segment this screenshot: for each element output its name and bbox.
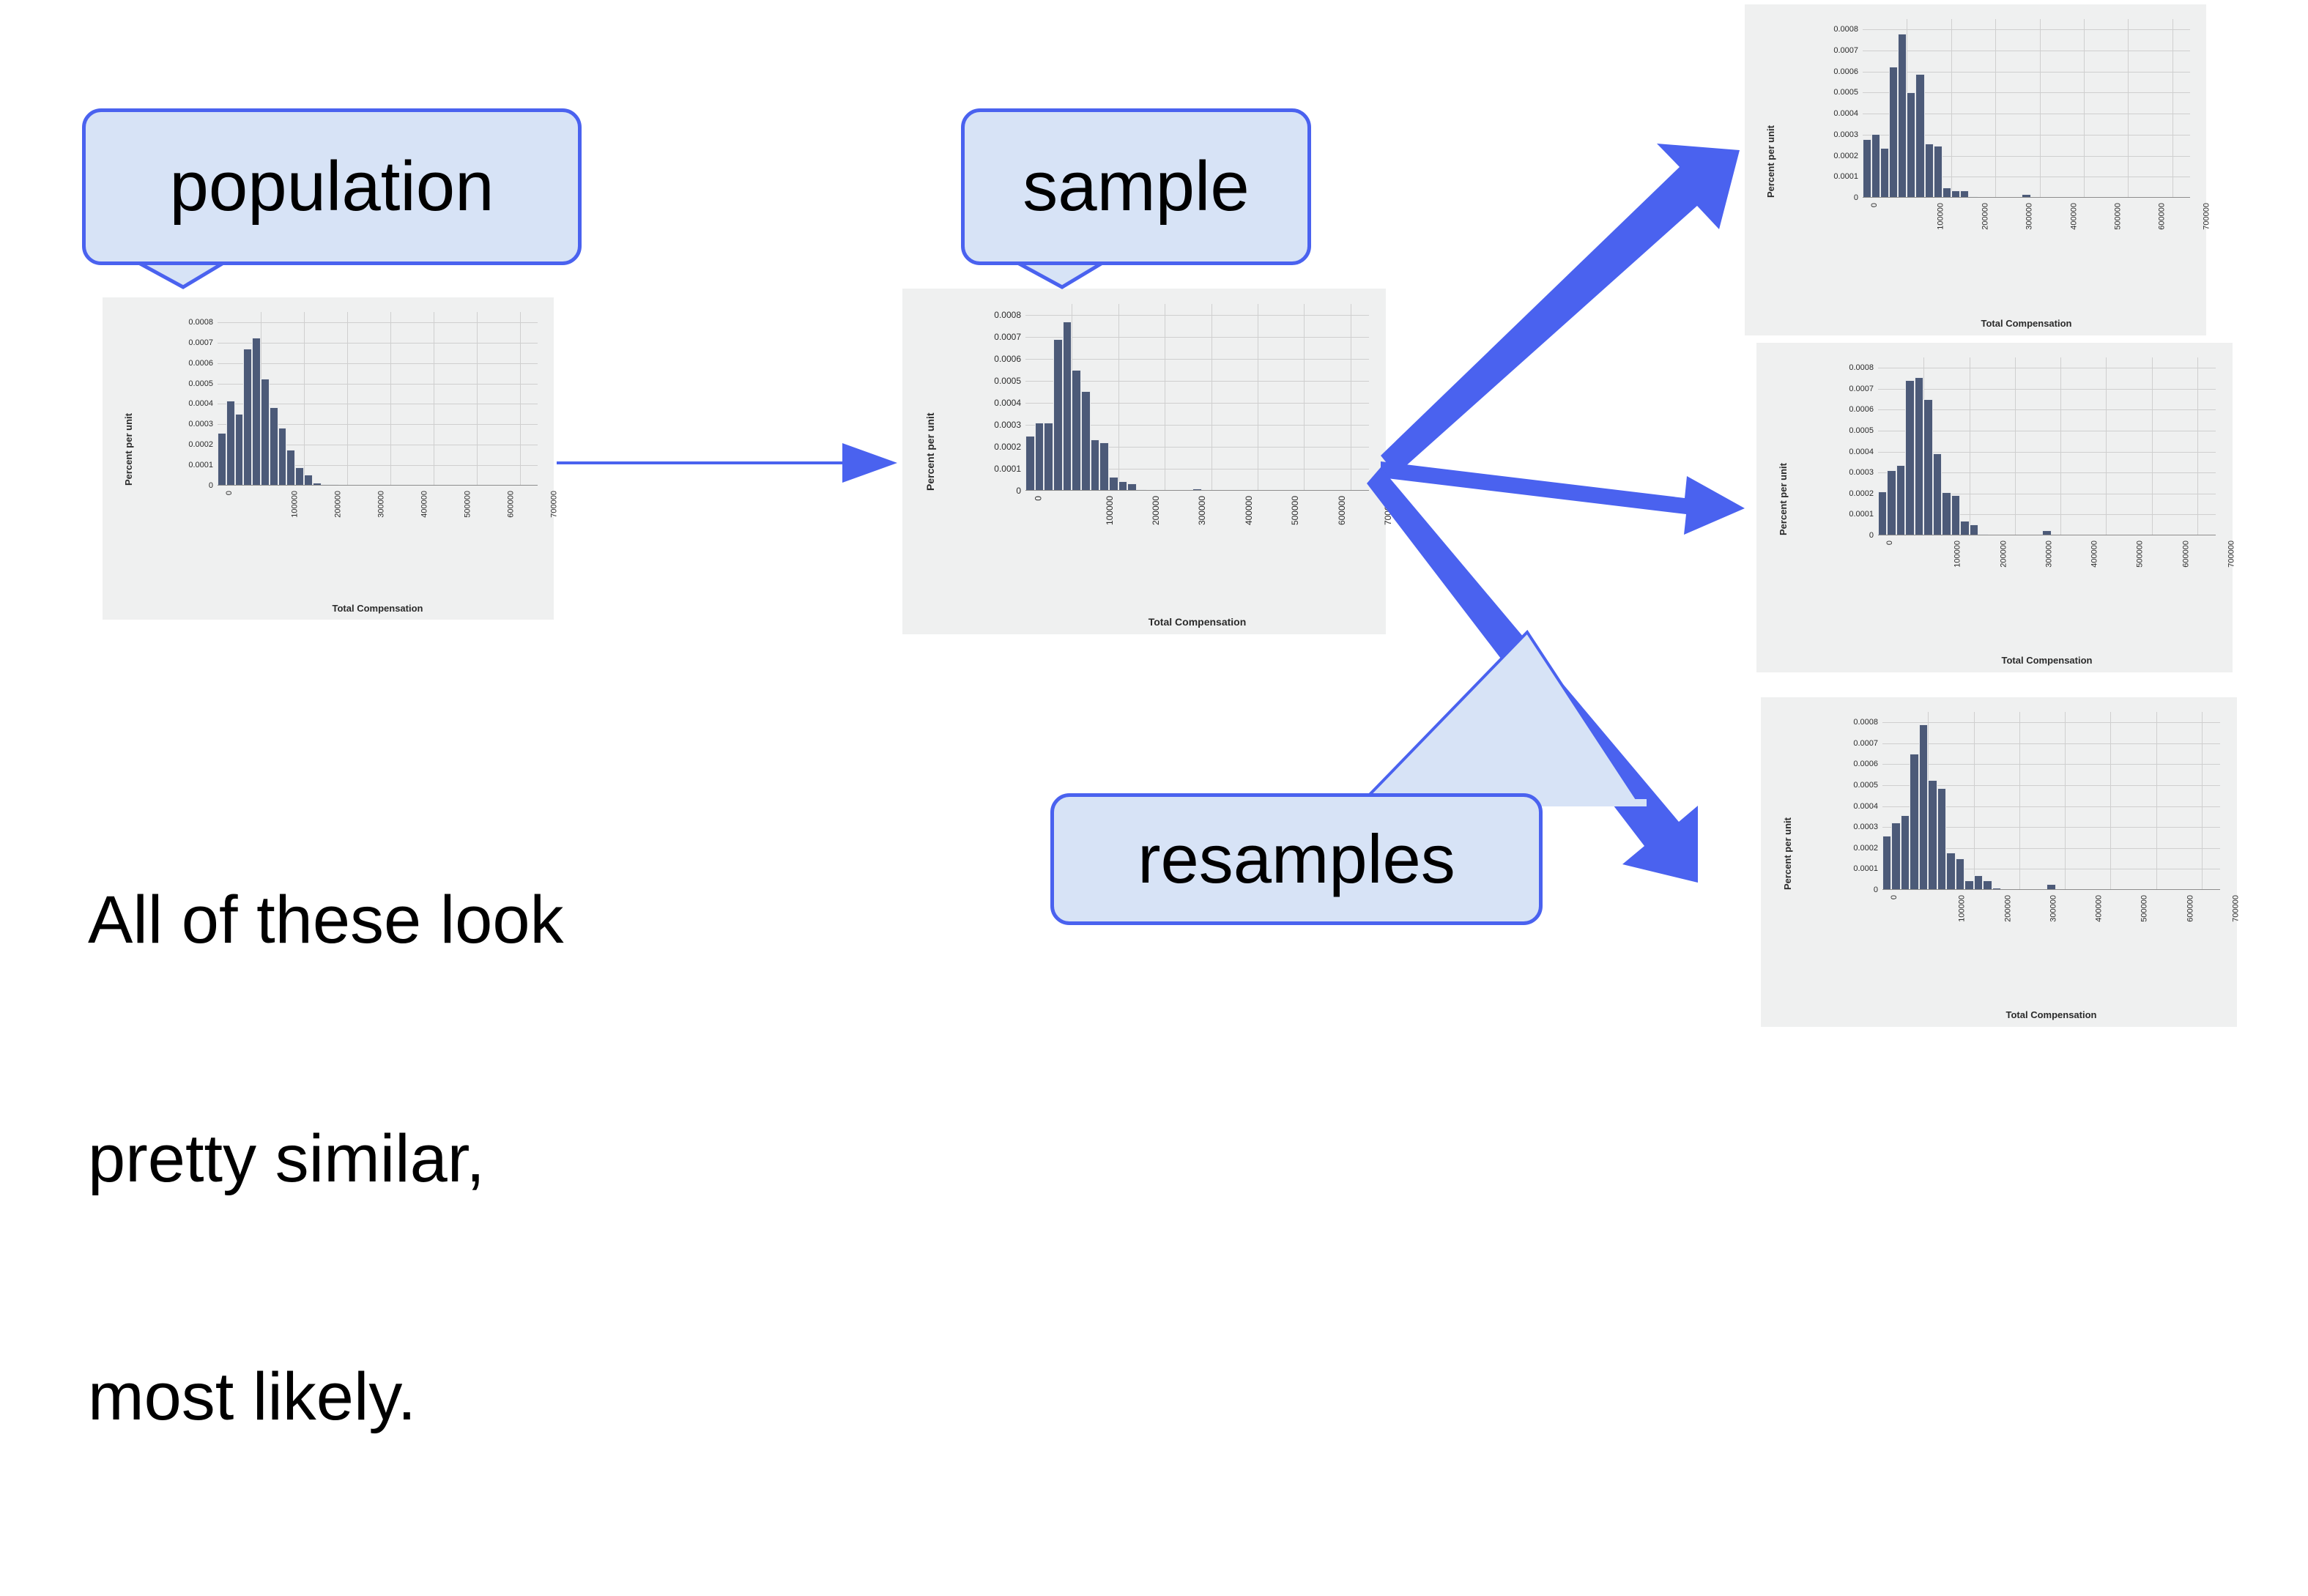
sample-bubble-label: sample <box>1023 152 1249 222</box>
resamples-bubble-label: resamples <box>1138 825 1455 894</box>
population-bubble-label: population <box>169 152 494 222</box>
arrow-sample-to-resample-1 <box>1381 144 1740 475</box>
caption-line-3: most likely. <box>88 1357 563 1437</box>
sample-bubble[interactable]: sample <box>961 108 1311 265</box>
population-bubble[interactable]: population <box>82 108 582 265</box>
caption-line-2: pretty similar, <box>88 1119 563 1199</box>
arrow-population-to-sample <box>557 443 897 483</box>
arrow-sample-to-resample-2 <box>1381 461 1745 535</box>
slide-canvas: population sample resamples All of these… <box>0 0 2308 1049</box>
resamples-bubble[interactable]: resamples <box>1050 793 1543 925</box>
resamples-bubble-tail <box>1340 626 1670 809</box>
